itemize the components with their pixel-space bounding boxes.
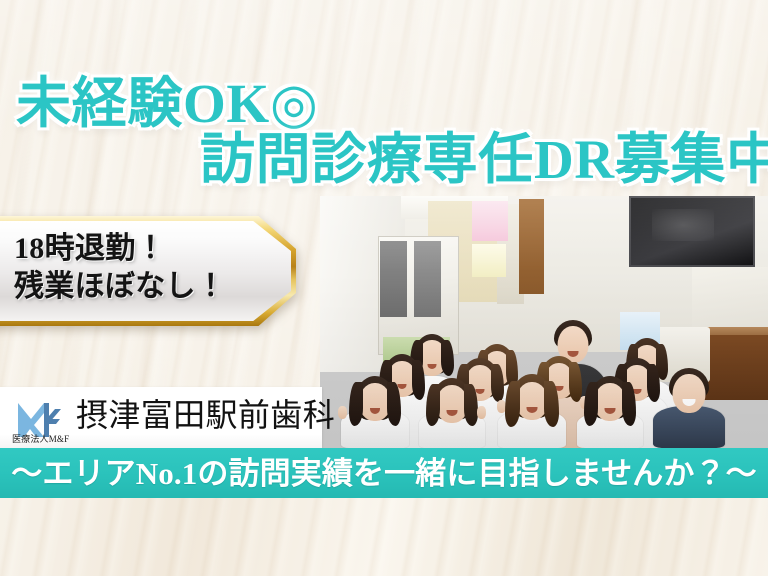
photo-lighting-overlay — [320, 196, 768, 448]
corporation-name: 医療法人M&F — [12, 432, 69, 445]
bottom-band-text: 〜エリアNo.1の訪問実績を一緒に目指しませんか？〜 — [11, 458, 756, 489]
headline-line-2: 訪問診療専任DR募集中！ — [200, 132, 768, 187]
ribbon-text: 18時退勤！ 残業ほぼなし！ — [14, 230, 250, 307]
ribbon-text-line-2: 残業ほぼなし！ — [14, 268, 250, 306]
photo-scene — [320, 196, 768, 448]
ribbon-text-line-1: 18時退勤！ — [14, 230, 250, 268]
gold-ribbon-badge: 18時退勤！ 残業ほぼなし！ — [0, 216, 296, 326]
staff-group-photo — [320, 196, 768, 448]
logo-band: 医療法人M&F 摂津富田駅前歯科 — [0, 387, 322, 448]
recruitment-banner: 未経験OK◎ 訪問診療専任DR募集中！ 18時退勤！ 残業ほぼなし！ 医療法人M… — [0, 0, 768, 576]
clinic-name: 摂津富田駅前歯科 — [76, 399, 335, 431]
bottom-teal-band: 〜エリアNo.1の訪問実績を一緒に目指しませんか？〜 — [0, 448, 768, 498]
bottom-cream-strip — [0, 498, 768, 576]
headline-line-1: 未経験OK◎ — [16, 76, 319, 131]
